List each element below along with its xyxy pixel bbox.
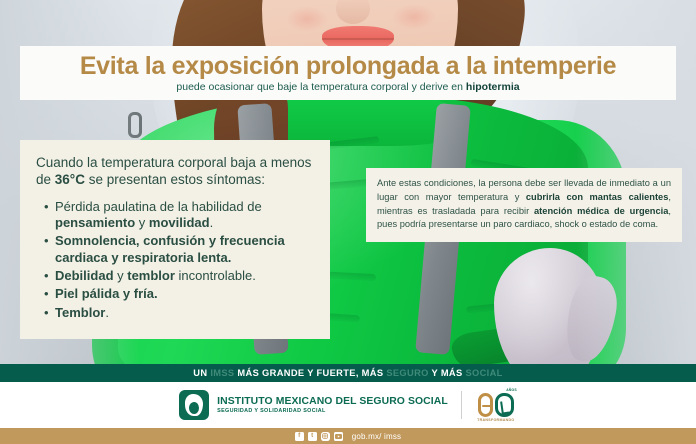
body-text: y bbox=[135, 215, 149, 230]
symptom-item: Piel pálida y fría. bbox=[44, 286, 314, 302]
imss-emblem-icon bbox=[179, 390, 209, 420]
anniversary-top-label: AÑOS bbox=[506, 388, 517, 392]
cheek-left bbox=[286, 6, 328, 32]
subtitle-text: puede ocasionar que baje la temperatura … bbox=[176, 81, 466, 93]
symptoms-lead: Cuando la temperatura corporal baja a me… bbox=[36, 154, 314, 189]
emphasis-text: temblor bbox=[127, 268, 175, 283]
social-url[interactable]: gob.mx/ imss bbox=[352, 432, 402, 441]
emphasis-text: cubrirla con mantas calientes bbox=[526, 192, 669, 202]
emphasis-text: Somnolencia, confusión y frecuencia card… bbox=[55, 233, 285, 264]
emergency-action-text: Ante estas condiciones, la persona debe … bbox=[377, 177, 671, 232]
emphasis-text: atención médica de urgencia bbox=[534, 206, 668, 216]
twitter-icon[interactable]: t bbox=[308, 432, 317, 441]
youtube-glyph bbox=[335, 434, 342, 439]
symptom-item: Temblor. bbox=[44, 305, 314, 321]
slogan-segment: Y MÁS bbox=[429, 368, 466, 378]
footer-divider bbox=[461, 391, 462, 419]
body-text: . bbox=[210, 215, 214, 230]
footer: INSTITUTO MEXICANO DEL SEGURO SOCIAL SEG… bbox=[0, 382, 696, 428]
emphasis-text: Piel pálida y fría. bbox=[55, 286, 158, 301]
youtube-icon[interactable] bbox=[334, 432, 343, 441]
poster-canvas: Evita la exposición prolongada a la inte… bbox=[0, 0, 696, 444]
symptom-item: Somnolencia, confusión y frecuencia card… bbox=[44, 233, 314, 266]
emphasis-text: pensamiento bbox=[55, 215, 135, 230]
page-subtitle: puede ocasionar que baje la temperatura … bbox=[176, 82, 519, 93]
body-text: incontrolable. bbox=[175, 268, 256, 283]
instagram-icon[interactable] bbox=[321, 432, 330, 441]
slogan-segment: MÁS GRANDE Y FUERTE, MÁS bbox=[234, 368, 386, 378]
page-title: Evita la exposición prolongada a la inte… bbox=[80, 54, 616, 79]
emergency-action-card: Ante estas condiciones, la persona debe … bbox=[366, 168, 682, 242]
symptom-item: Debilidad y temblor incontrolable. bbox=[44, 268, 314, 284]
slogan-highlight: IMSS bbox=[210, 368, 234, 378]
symptoms-lead-part2: se presentan estos síntomas: bbox=[85, 172, 265, 187]
anniversary-digit-zero bbox=[495, 393, 514, 417]
subtitle-emphasis: hipotermia bbox=[466, 81, 520, 93]
anniversary-80-logo: AÑOS TRANSFORMANDO bbox=[475, 389, 517, 421]
cheek-right bbox=[392, 4, 436, 30]
body-text: Pérdida paulatina de la habilidad de bbox=[55, 199, 262, 214]
emphasis-text: Temblor bbox=[55, 305, 105, 320]
slogan-highlight: SOCIAL bbox=[465, 368, 502, 378]
institute-tagline: SEGURIDAD Y SOLIDARIDAD SOCIAL bbox=[217, 408, 448, 414]
body-text: y bbox=[114, 268, 128, 283]
slogan-segment: UN bbox=[193, 368, 210, 378]
social-bar: f t gob.mx/ imss bbox=[0, 428, 696, 444]
symptoms-list: Pérdida paulatina de la habilidad de pen… bbox=[36, 199, 314, 322]
emphasis-text: movilidad bbox=[149, 215, 210, 230]
slogan-bar: UN IMSS MÁS GRANDE Y FUERTE, MÁS SEGURO … bbox=[0, 364, 696, 382]
anniversary-digit-eight bbox=[478, 393, 493, 417]
imss-logo: INSTITUTO MEXICANO DEL SEGURO SOCIAL SEG… bbox=[179, 390, 448, 420]
emphasis-text: Debilidad bbox=[55, 268, 114, 283]
facebook-icon[interactable]: f bbox=[295, 432, 304, 441]
lip-line bbox=[322, 38, 394, 40]
slogan-text: UN IMSS MÁS GRANDE Y FUERTE, MÁS SEGURO … bbox=[193, 368, 502, 378]
instagram-glyph bbox=[322, 433, 328, 439]
symptom-item: Pérdida paulatina de la habilidad de pen… bbox=[44, 199, 314, 232]
symptoms-card: Cuando la temperatura corporal baja a me… bbox=[20, 140, 330, 339]
header-band: Evita la exposición prolongada a la inte… bbox=[20, 46, 676, 100]
anniversary-caption: TRANSFORMANDO bbox=[475, 418, 517, 422]
body-text: . bbox=[105, 305, 109, 320]
slogan-highlight: SEGURO bbox=[386, 368, 428, 378]
symptoms-temperature-value: 36°C bbox=[55, 172, 85, 187]
institute-name: INSTITUTO MEXICANO DEL SEGURO SOCIAL bbox=[217, 396, 448, 408]
imss-logo-text: INSTITUTO MEXICANO DEL SEGURO SOCIAL SEG… bbox=[217, 396, 448, 414]
